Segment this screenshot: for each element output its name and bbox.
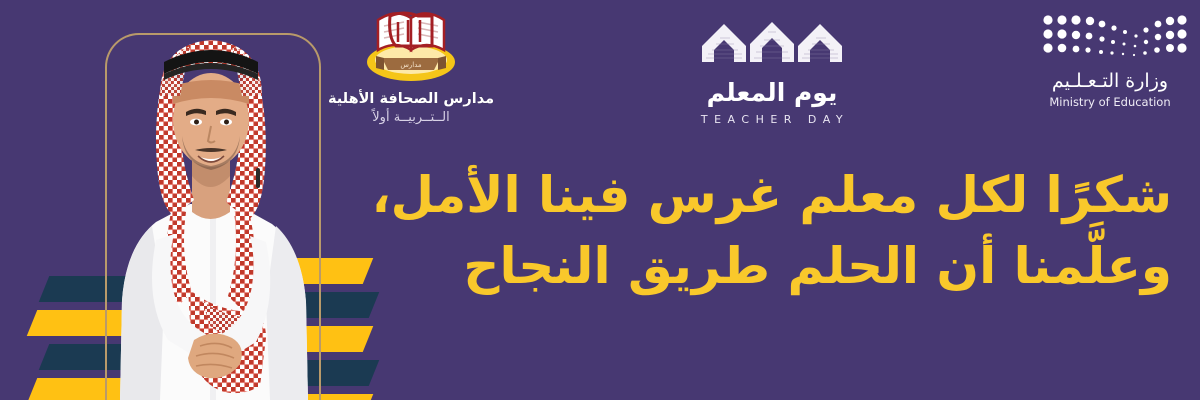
teacher-day-title-en: TEACHER DAY (672, 113, 872, 126)
headline-line-2: وعلَّمنا أن الحلم طريق النجاح (362, 231, 1172, 302)
logo-ministry-of-education: وزارة التـعـلـيم Ministry of Education (1030, 10, 1190, 109)
portrait-illustration (60, 0, 360, 400)
teacher-day-title-ar: يوم المعلم (672, 78, 872, 107)
headline-line-1: شكرًا لكل معلم غرس فينا الأمل، (362, 160, 1172, 231)
school-tagline: الــتــربيــة أولاً (318, 110, 504, 125)
teacher-day-geometric-mark-icon (672, 14, 872, 72)
teacher-day-banner: مدارس مدارس الصحافة الأهلية الــتــربيــ… (0, 0, 1200, 400)
svg-text:مدارس: مدارس (400, 61, 422, 69)
ministry-title-ar: وزارة التـعـلـيم (1030, 70, 1190, 92)
portrait (60, 0, 360, 400)
open-book-emblem-icon: مدارس (318, 2, 504, 84)
ministry-title-en: Ministry of Education (1030, 95, 1190, 109)
ministry-dot-matrix-icon (1030, 10, 1190, 64)
logo-school: مدارس مدارس الصحافة الأهلية الــتــربيــ… (318, 2, 504, 125)
headline: شكرًا لكل معلم غرس فينا الأمل، وعلَّمنا … (362, 160, 1172, 302)
school-name: مدارس الصحافة الأهلية (318, 91, 504, 107)
logo-teacher-day: يوم المعلم TEACHER DAY (672, 14, 872, 126)
